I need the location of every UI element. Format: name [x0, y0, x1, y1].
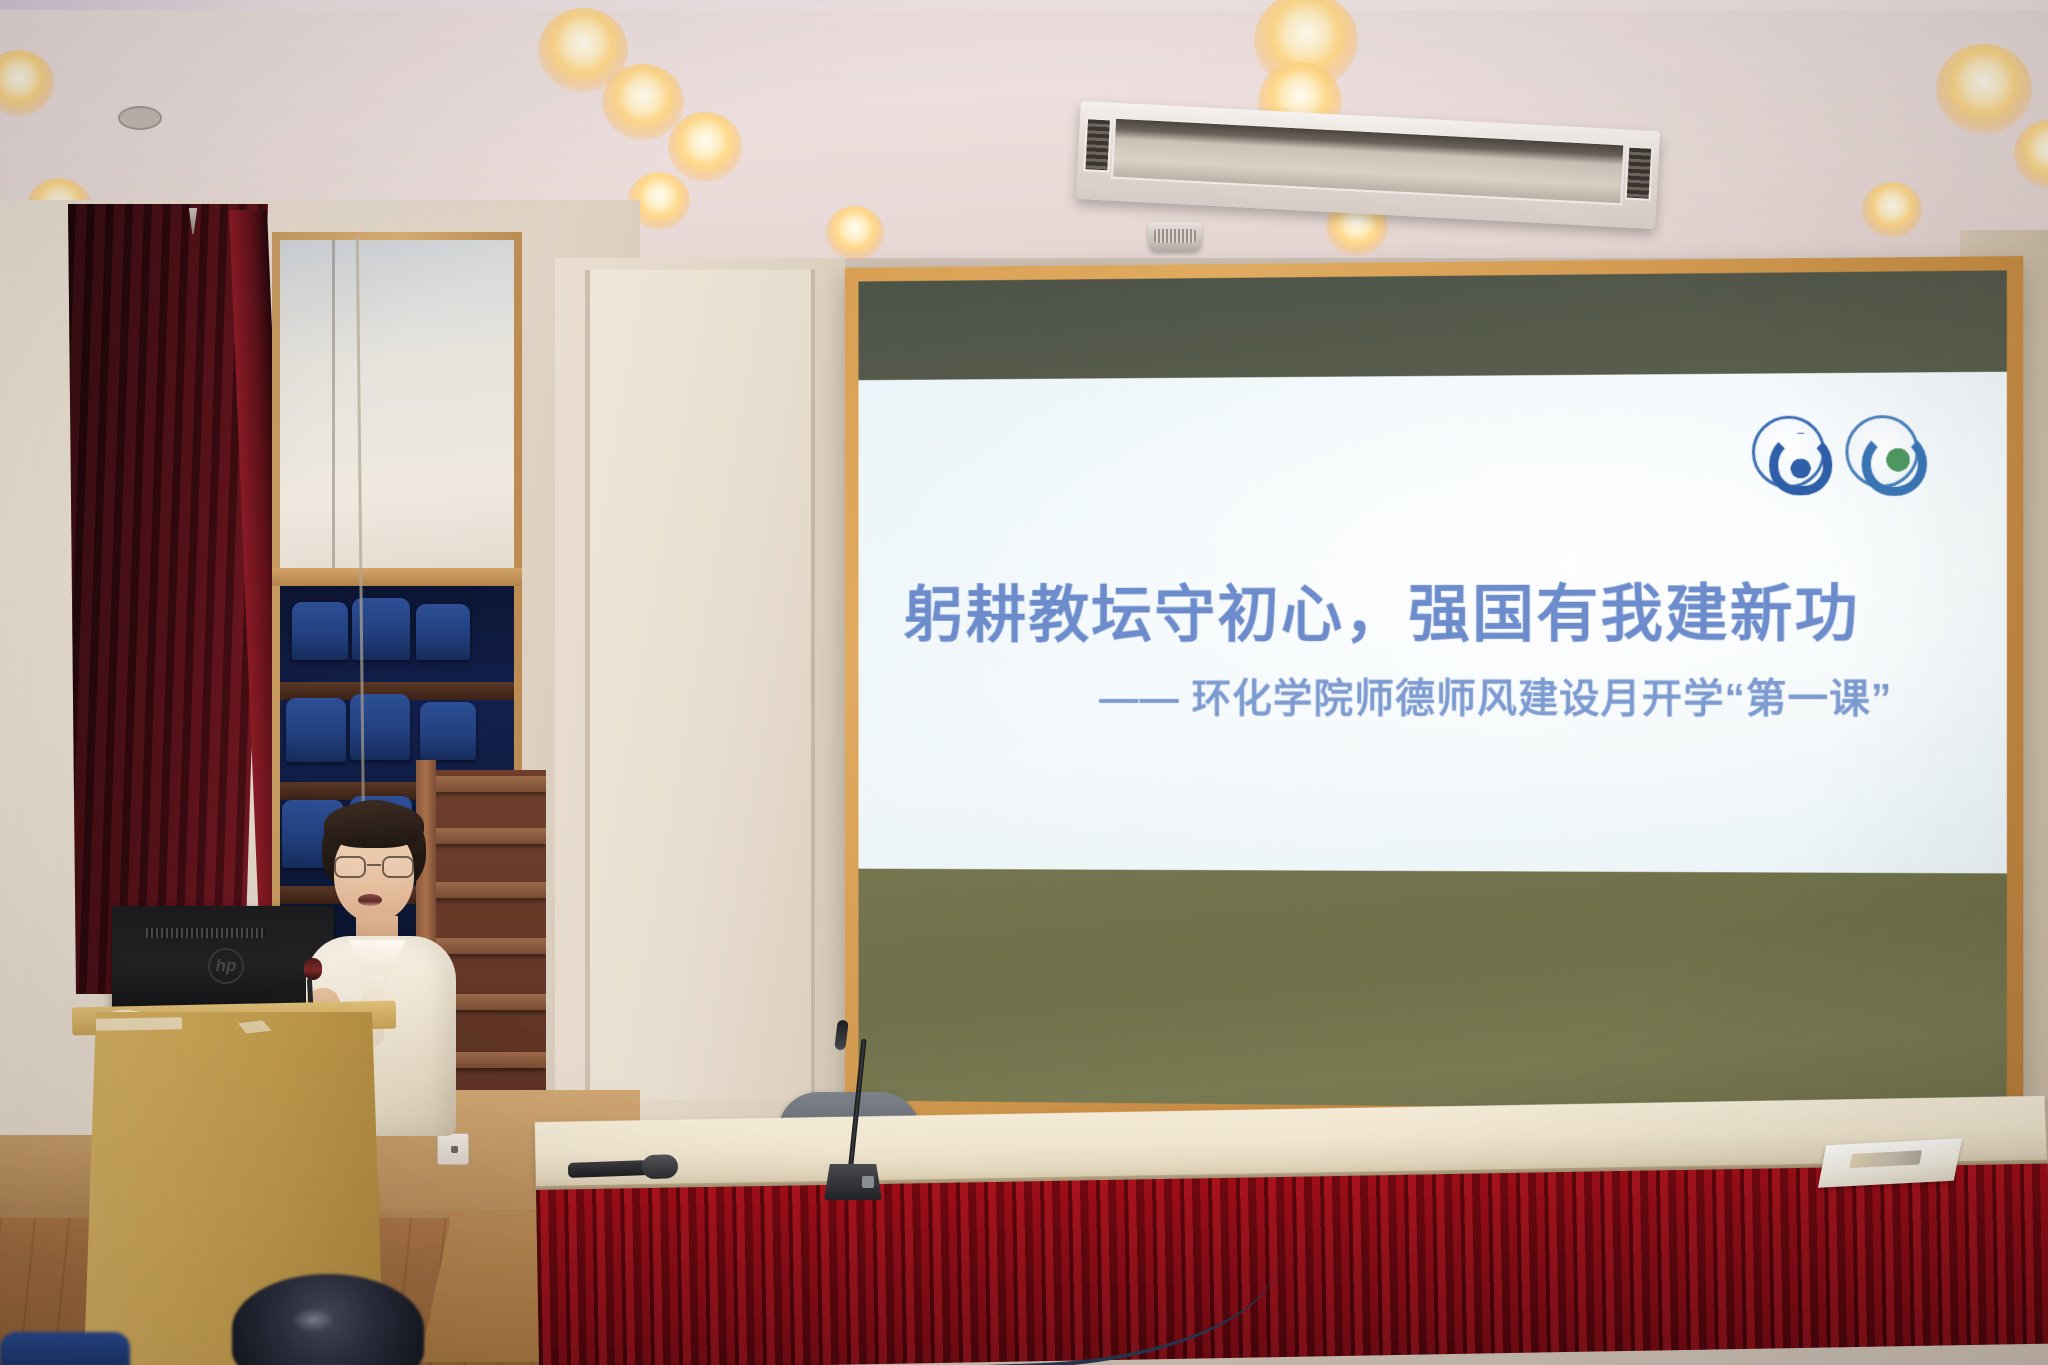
auditorium-seat: [416, 604, 470, 660]
auditorium-seat: [420, 702, 476, 760]
environmental-chemical-college-seal-icon: [1845, 415, 1918, 488]
microphone-gooseneck: [848, 1038, 867, 1168]
slide-logos: [1752, 415, 1919, 489]
gooseneck-microphone[interactable]: [818, 1022, 882, 1200]
ceiling-light-recessed-rim: [118, 106, 162, 130]
screen-top-band: [859, 270, 2007, 388]
window-upper-pane: [280, 240, 514, 570]
papers-stack: [1818, 1138, 1962, 1188]
handheld-microphone[interactable]: [568, 1156, 679, 1180]
slide-content-area: 躬耕教坛守初心，强国有我建新功 —— 环化学院师德师风建设月开学“第一课”: [859, 372, 2007, 874]
speaker-mouth: [358, 894, 382, 906]
projection-screen-frame: 躬耕教坛守初心，强国有我建新功 —— 环化学院师德师风建设月开学“第一课” 主讲…: [845, 256, 2023, 1128]
podium-tape-mark: [96, 1017, 182, 1030]
hvac-side-vent-right: [1625, 146, 1654, 201]
auditorium-seat: [286, 698, 346, 762]
auditorium-seat: [292, 602, 348, 660]
slide-title: 躬耕教坛守初心，强国有我建新功: [903, 562, 2007, 654]
window-mullion: [272, 568, 522, 586]
lecture-hall-scene: 躬耕教坛守初心，强国有我建新功 —— 环化学院师德师风建设月开学“第一课” 主讲…: [0, 0, 2048, 1365]
microphone-head-icon: [304, 958, 322, 980]
monitor-vent: [146, 928, 266, 938]
ceiling-light: [1936, 44, 2032, 134]
shanghai-university-seal-icon: [1752, 415, 1825, 488]
ceiling-light: [1862, 182, 1922, 238]
smoke-detector: [1148, 222, 1202, 252]
speaker-handheld-microphone: [304, 958, 322, 1002]
ceiling-light: [668, 112, 742, 182]
microphone-handle: [568, 1160, 648, 1178]
presentation-table-skirt: [536, 1164, 2048, 1365]
window-blind-line: [332, 240, 335, 570]
speaker-glasses-icon: [334, 856, 414, 878]
auditorium-seat: [350, 694, 410, 760]
stair-tread: [428, 776, 546, 792]
hvac-side-vent-left: [1083, 117, 1112, 172]
projection-screen[interactable]: 躬耕教坛守初心，强国有我建新功 —— 环化学院师德师风建设月开学“第一课” 主讲…: [859, 270, 2007, 1111]
wall-outlet: [437, 1133, 469, 1165]
hp-logo-icon: hp: [208, 948, 244, 984]
wall-panel: [585, 270, 815, 1100]
ceiling-light: [826, 206, 884, 260]
ceiling-light: [602, 64, 684, 140]
glasses-lens-right: [382, 856, 414, 878]
glasses-lens-left: [334, 856, 366, 878]
hvac-grille: [1111, 117, 1626, 206]
microphone-head-icon: [642, 1154, 679, 1179]
slide-lower-band: 主讲人：钱冬英 日期：2023年9月14日: [859, 869, 2007, 1112]
microphone-capsule-icon: [834, 1019, 849, 1050]
glasses-bridge: [367, 864, 381, 866]
speaker-hair-front: [324, 802, 424, 848]
slide-subtitle: —— 环化学院师德师风建设月开学“第一课”: [1099, 666, 1892, 725]
audience-seat: [0, 1332, 130, 1365]
